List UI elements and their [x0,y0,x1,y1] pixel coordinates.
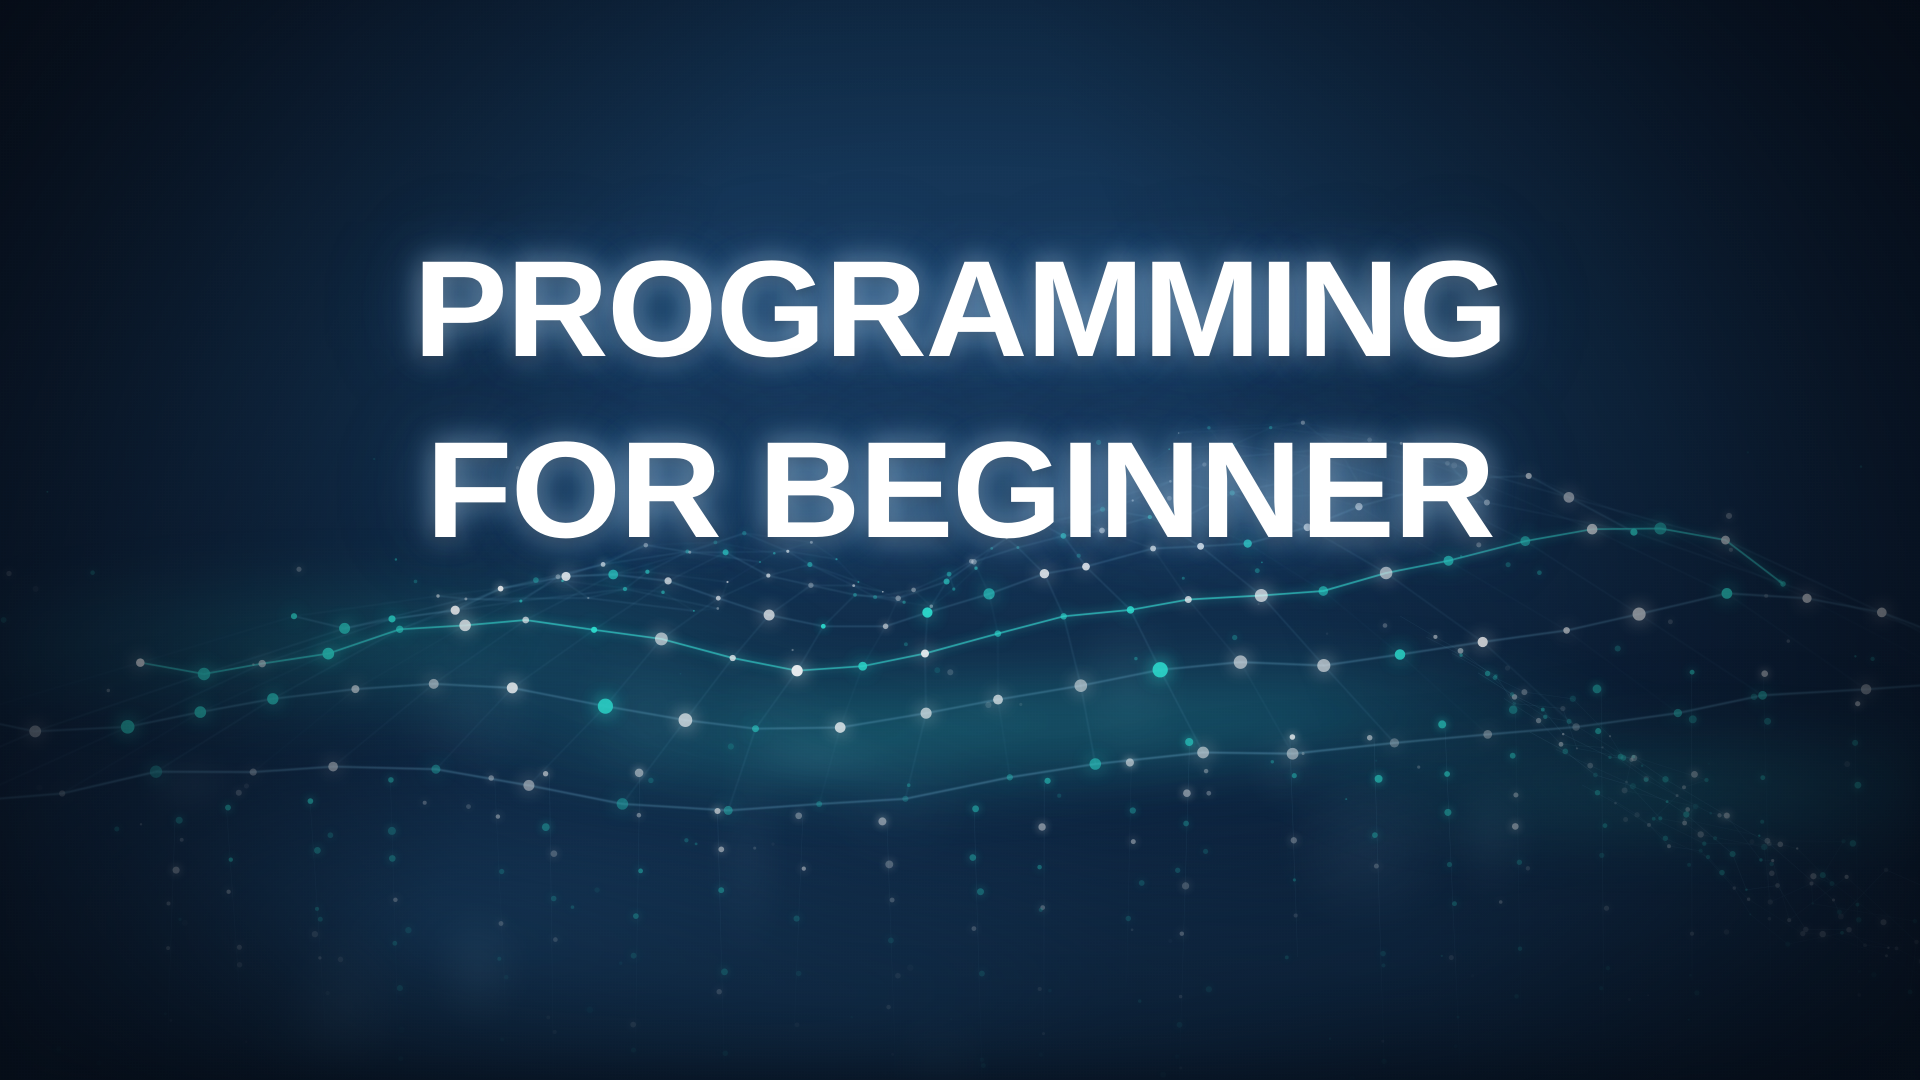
title-card-canvas: PROGRAMMING FOR BEGINNER [0,0,1920,1080]
background-grain-texture [0,0,1920,1080]
